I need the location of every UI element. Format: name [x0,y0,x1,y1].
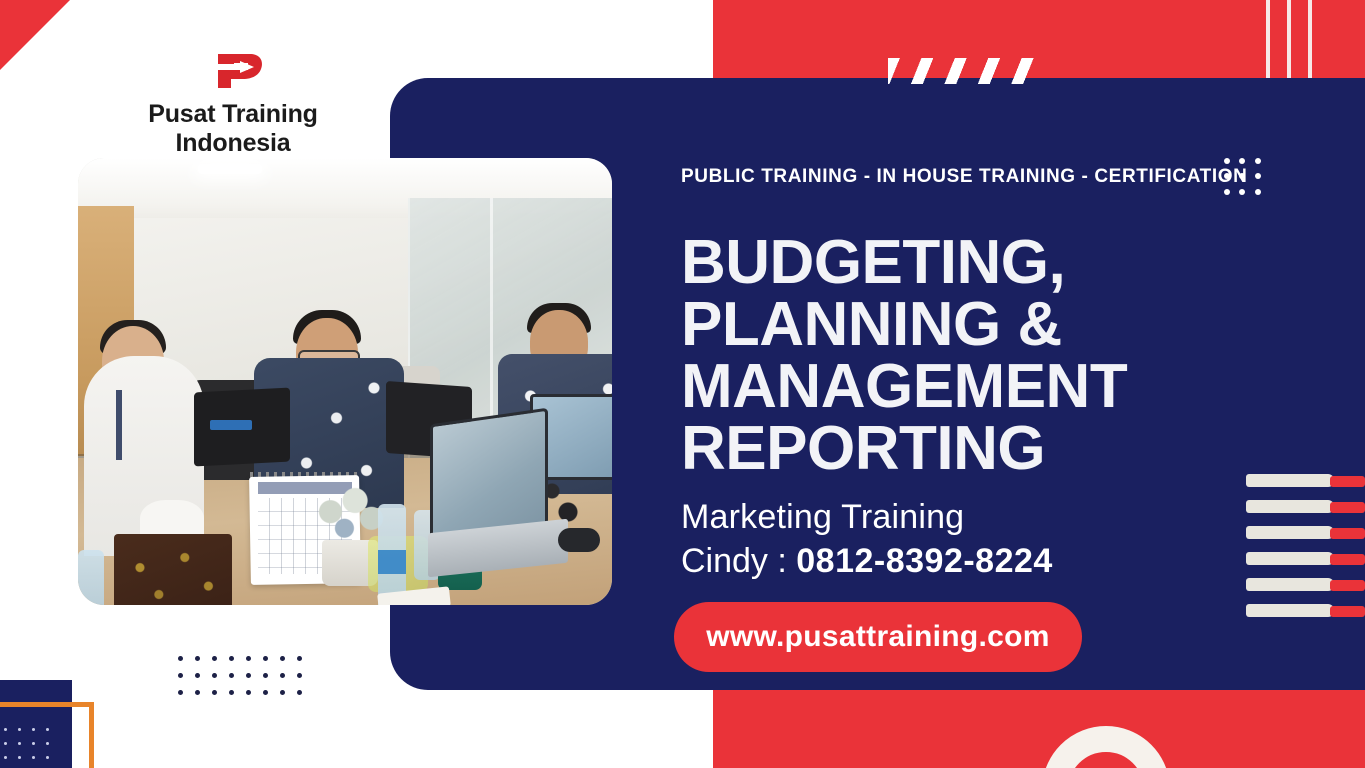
dot [297,673,302,678]
subtitle-text: Marketing Training [681,498,964,537]
dot-grid-decoration [1224,158,1270,204]
dot [178,690,183,695]
promo-banner: Pusat Training Indonesia [0,0,1365,768]
bar-row [1246,552,1365,565]
dot [246,690,251,695]
dot [229,690,234,695]
contact-line: Cindy : 0812-8392-8224 [681,542,1053,581]
dot [246,673,251,678]
bar-light-segment [1246,578,1334,591]
bar-red-segment [1330,606,1365,617]
dot [1224,189,1230,195]
dot [297,690,302,695]
contact-label: Cindy : [681,542,796,580]
dot [178,656,183,661]
dot [229,656,234,661]
bar-red-segment [1330,554,1365,565]
dark-dot-grid-decoration [178,656,300,696]
bar-red-segment [1330,580,1365,591]
photo-bottle-label [378,550,406,574]
page-title: BUDGETING, PLANNING & MANAGEMENT REPORTI… [681,232,1241,480]
eyebrow-text: PUBLIC TRAINING - IN HOUSE TRAINING - CE… [681,166,1247,188]
photo-laptop-label [210,420,252,430]
headline-line: MANAGEMENT [681,356,1241,418]
dot [212,690,217,695]
bar-row [1246,604,1365,617]
dot [195,673,200,678]
dot [246,656,251,661]
headline-line: BUDGETING, [681,232,1241,294]
dot [1255,189,1261,195]
dot [212,656,217,661]
dot [263,690,268,695]
bar-red-segment [1330,502,1365,513]
bar-row [1246,578,1365,591]
dot [1224,173,1230,179]
dot [1255,158,1261,164]
training-photo [78,158,612,605]
brand-lockup: Pusat Training Indonesia [88,50,378,158]
dot [195,690,200,695]
dot [1239,189,1245,195]
contact-phone: 0812-8392-8224 [796,542,1053,580]
photo-lanyard [116,390,122,460]
photo-ceiling-light [198,164,262,174]
bar-light-segment [1246,526,1334,539]
diagonal-slash-decoration [888,58,1038,84]
photo-mouse [558,528,600,552]
stylized-p-arrow-logo-icon [198,50,268,92]
bar-row [1246,500,1365,513]
bar-light-segment [1246,500,1334,513]
dot [280,673,285,678]
dot [263,656,268,661]
orange-frame-decoration [0,702,94,768]
vertical-line-decoration [1266,0,1270,78]
vertical-line-decoration [1287,0,1291,78]
headline-line: PLANNING & [681,294,1241,356]
bar-stack-decoration [1246,474,1365,620]
dot [297,656,302,661]
brand-name: Pusat Training Indonesia [88,100,378,158]
dot [1255,173,1261,179]
dot [280,656,285,661]
bar-red-segment [1330,528,1365,539]
dot [1239,173,1245,179]
dot [212,673,217,678]
website-cta-button[interactable]: www.pusattraining.com [674,602,1082,672]
dot [1239,158,1245,164]
bar-light-segment [1246,552,1334,565]
red-corner-triangle [0,0,70,70]
dot [263,673,268,678]
photo-water-bottle [78,550,104,605]
bar-row [1246,526,1365,539]
photo-tissue-box [114,534,232,605]
dot [195,656,200,661]
dot [178,673,183,678]
bar-light-segment [1246,604,1334,617]
dot [1224,158,1230,164]
bar-light-segment [1246,474,1334,487]
dot [229,673,234,678]
vertical-line-decoration [1308,0,1312,78]
dot [280,690,285,695]
bar-red-segment [1330,476,1365,487]
bar-row [1246,474,1365,487]
headline-line: REPORTING [681,418,1241,480]
